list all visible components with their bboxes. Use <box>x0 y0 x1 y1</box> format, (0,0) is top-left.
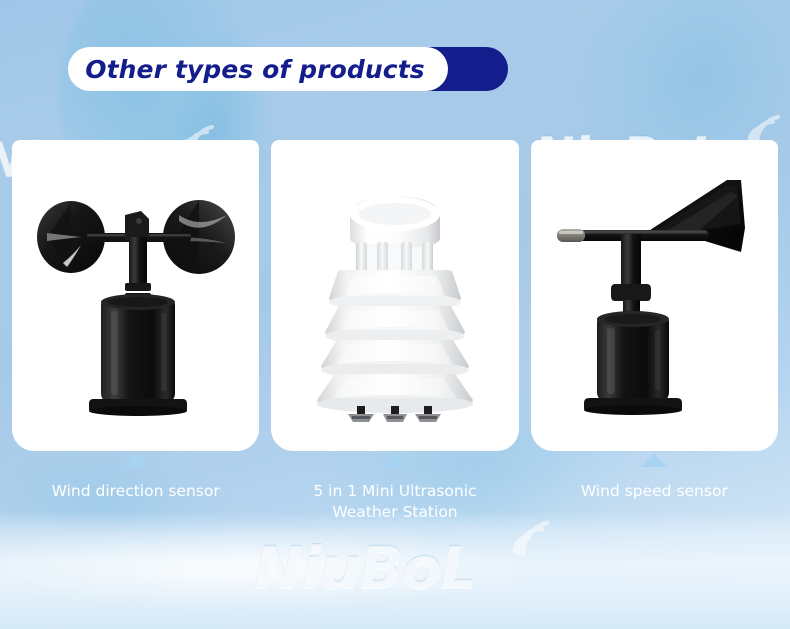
promo-banner-stage: NiuBoL NiuBoL Other types of products <box>0 0 790 629</box>
product-image-cup-anemometer <box>12 140 259 451</box>
watermark-text: NiuBoL <box>254 534 476 602</box>
triangle-pointer-icon <box>123 453 149 467</box>
product-card-weather-station[interactable] <box>271 140 518 451</box>
triangle-pointer-icon <box>382 453 408 467</box>
product-label-row: Wind direction sensor 5 in 1 Mini Ultras… <box>12 453 778 523</box>
bottom-haze-overlay <box>0 511 790 629</box>
product-image-ultrasonic-weather-station <box>271 140 518 451</box>
product-label-text: 5 in 1 Mini Ultrasonic Weather Station <box>313 481 476 523</box>
product-card-wind-direction-sensor[interactable] <box>12 140 259 451</box>
product-label-line2: Weather Station <box>313 502 476 523</box>
product-label-text: Wind direction sensor <box>52 481 220 502</box>
section-title-banner: Other types of products <box>68 47 508 91</box>
product-image-wind-vane <box>531 140 778 451</box>
bottom-cloud-wisp <box>0 533 520 603</box>
product-card-wind-speed-sensor[interactable] <box>531 140 778 451</box>
product-card-row <box>12 140 778 451</box>
page-title: Other types of products <box>68 47 448 91</box>
product-label-weather-station: 5 in 1 Mini Ultrasonic Weather Station <box>271 453 518 523</box>
product-label-text: Wind speed sensor <box>581 481 728 502</box>
wifi-arc-icon <box>510 520 550 556</box>
product-label-line1: 5 in 1 Mini Ultrasonic <box>313 481 476 502</box>
triangle-pointer-icon <box>641 453 667 467</box>
watermark-center: NiuBoL <box>254 534 476 602</box>
product-label-wind-direction-sensor: Wind direction sensor <box>12 453 259 523</box>
product-label-wind-speed-sensor: Wind speed sensor <box>531 453 778 523</box>
